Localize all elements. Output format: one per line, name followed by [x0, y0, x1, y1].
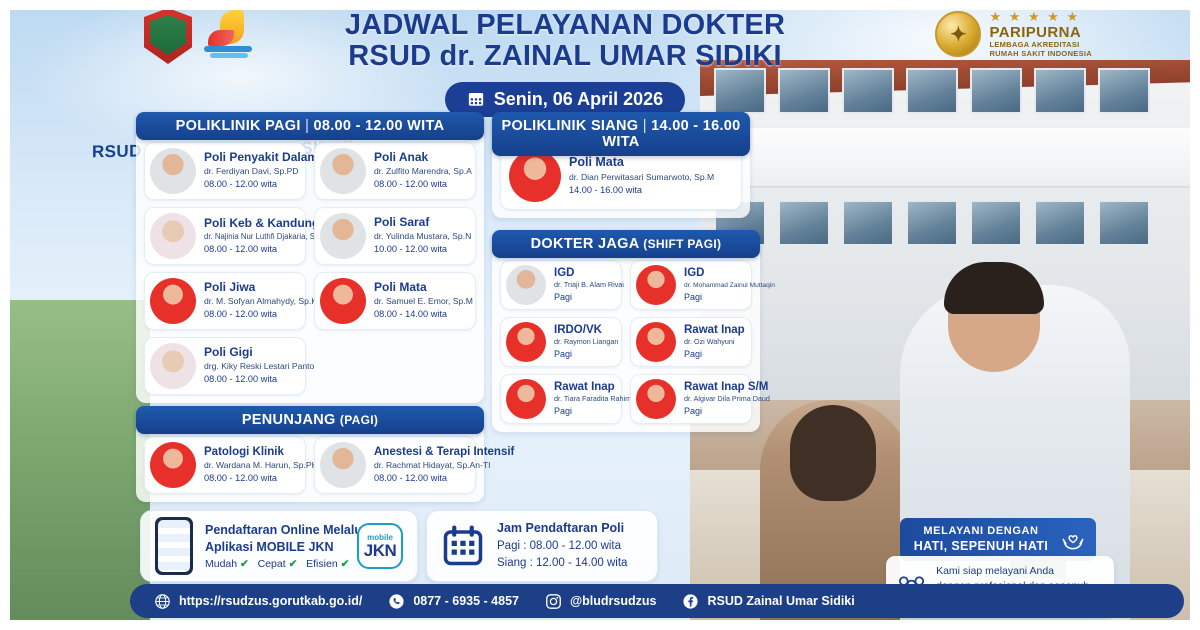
- section-title: PENUNJANG: [242, 412, 336, 428]
- title-line-1: JADWAL PELAYANAN DOKTER: [330, 10, 800, 41]
- duty-card[interactable]: IGD dr. Mohammad Zainul Muttaqin Pagi: [630, 260, 752, 310]
- clinic-name: Anestesi & Terapi Intensif: [374, 445, 467, 459]
- instagram-icon: [545, 593, 562, 610]
- duty-shift: Pagi: [684, 291, 746, 304]
- doctor-avatar: [636, 379, 676, 419]
- clinic-card-text: Poli Anak dr. Zulfito Marendra, Sp.A 08.…: [374, 150, 467, 191]
- doctor-name: dr. Triaji B. Alam Rivai: [554, 280, 616, 291]
- doctor-name: dr. Algivar Dila Prima Daud: [684, 394, 746, 405]
- clinic-time: 08.00 - 12.00 wita: [374, 178, 467, 191]
- patient-head: [790, 405, 876, 501]
- support-card[interactable]: Anestesi & Terapi Intensif dr. Rachmat H…: [314, 436, 476, 494]
- section-header-poliklinik-siang: POLIKLINIK SIANG | 14.00 - 16.00 WITA: [492, 112, 750, 156]
- clinic-time: 08.00 - 12.00 wita: [204, 178, 297, 191]
- jkn-text-block: Pendaftaran Online Melalui Aplikasi MOBI…: [205, 522, 345, 570]
- duty-card[interactable]: IGD dr. Triaji B. Alam Rivai Pagi: [500, 260, 622, 310]
- section-poliklinik-siang: POLIKLINIK SIANG | 14.00 - 16.00 WITA Po…: [492, 112, 750, 218]
- section-shift: (PAGI): [340, 413, 378, 427]
- check-icon: ✔: [240, 558, 249, 570]
- doctor-avatar: [320, 278, 366, 324]
- clinic-card[interactable]: Poli Keb & Kandungan dr. Najinia Nur Lut…: [144, 207, 306, 265]
- doctor-name: dr. Rachmat Hidayat, Sp.An-TI: [374, 459, 467, 472]
- footer-phone[interactable]: 0877 - 6935 - 4857: [388, 593, 519, 610]
- page-title: JADWAL PELAYANAN DOKTER RSUD dr. ZAINAL …: [330, 10, 800, 117]
- clinic-name: Poli Saraf: [374, 215, 467, 230]
- duty-unit: Rawat Inap: [684, 323, 745, 337]
- building-sign-band: [700, 128, 1200, 186]
- clinic-card-text: Poli Penyakit Dalam dr. Ferdiyan Davi, S…: [204, 150, 297, 191]
- window: [1098, 200, 1150, 246]
- jkn-tag-2: Cepat: [258, 558, 286, 570]
- promise-line-1: Kami siap melayani Anda: [936, 564, 1104, 579]
- accreditation-level: PARIPURNA: [989, 25, 1092, 42]
- clinic-name: Poli Keb & Kandungan: [204, 216, 297, 231]
- motto-line-2: HATI, SEPENUH HATI: [910, 539, 1052, 555]
- duty-shift: Pagi: [554, 348, 616, 361]
- doctor-name: dr. M. Sofyan Almahydy, Sp.KJ: [204, 295, 297, 308]
- doctor-avatar: [150, 442, 196, 488]
- jkn-line-1: Pendaftaran Online Melalui: [205, 522, 345, 539]
- window: [906, 200, 958, 246]
- clinic-card[interactable]: Poli Penyakit Dalam dr. Ferdiyan Davi, S…: [144, 142, 306, 200]
- clinic-time: 14.00 - 16.00 wita: [569, 184, 714, 197]
- doctor-name: drg. Kiky Reski Lestari Panto: [204, 360, 297, 373]
- duty-unit: Rawat Inap S/M: [684, 380, 746, 394]
- motto-badge: MELAYANI DENGAN HATI, SEPENUH HATI: [900, 518, 1096, 561]
- jkn-benefits: Mudah ✔ Cepat ✔ Efisien ✔: [205, 558, 345, 570]
- window: [1098, 68, 1150, 114]
- section-header-penunjang: PENUNJANG (PAGI): [136, 406, 484, 434]
- boat-logo-icon: [202, 8, 256, 60]
- panel-body: Poli Penyakit Dalam dr. Ferdiyan Davi, S…: [136, 112, 484, 403]
- section-separator: |: [643, 118, 647, 134]
- duty-shift: Pagi: [554, 291, 616, 304]
- panel-body: IGD dr. Triaji B. Alam Rivai Pagi IGD dr…: [492, 230, 760, 432]
- section-header-dokter-jaga: DOKTER JAGA (SHIFT PAGI): [492, 230, 760, 258]
- date-label: Senin, 06 April 2026: [494, 89, 663, 110]
- clinic-name: Poli Anak: [374, 150, 467, 165]
- doctor-name: dr. Yulinda Mustara, Sp.N: [374, 230, 467, 243]
- duty-unit: IGD: [684, 266, 746, 280]
- duty-card-text: IGD dr. Triaji B. Alam Rivai Pagi: [554, 266, 616, 304]
- support-card-text: Anestesi & Terapi Intensif dr. Rachmat H…: [374, 445, 467, 486]
- doctor-name: dr. Ferdiyan Davi, Sp.PD: [204, 165, 297, 178]
- motto-line-1: MELAYANI DENGAN: [910, 525, 1052, 539]
- clinic-name: Poli Mata: [569, 155, 714, 171]
- support-card[interactable]: Patologi Klinik dr. Wardana M. Harun, Sp…: [144, 436, 306, 494]
- duty-card-text: IRDO/VK dr. Raymon Liangan Pagi: [554, 323, 616, 361]
- clinic-time: 10.00 - 12.00 wita: [374, 243, 467, 256]
- heart-in-hands-icon: [1060, 527, 1086, 553]
- duty-card-text: Rawat Inap dr. Ozi Wahyuni Pagi: [684, 323, 745, 361]
- clinic-card-text: Poli Mata dr. Dian Perwitasari Sumarwoto…: [569, 155, 714, 197]
- facebook-page: RSUD Zainal Umar Sidiki: [707, 594, 854, 608]
- title-line-2: RSUD dr. ZAINAL UMAR SIDIKI: [330, 41, 800, 72]
- calendar-icon: [441, 525, 485, 567]
- window: [970, 68, 1022, 114]
- duty-unit: IRDO/VK: [554, 323, 616, 337]
- jkn-logo-bottom: JKN: [364, 542, 397, 559]
- window: [842, 68, 894, 114]
- clinic-card-text: Poli Gigi drg. Kiky Reski Lestari Panto …: [204, 345, 297, 386]
- doctor-name: dr. Wardana M. Harun, Sp.PK: [204, 459, 297, 472]
- doctor-name: dr. Zulfito Marendra, Sp.A: [374, 165, 467, 178]
- duty-card[interactable]: Rawat Inap dr. Ozi Wahyuni Pagi: [630, 317, 752, 367]
- clinic-name: Patologi Klinik: [204, 445, 297, 459]
- building-window-row-lower: [714, 200, 1150, 246]
- clinic-name: Poli Jiwa: [204, 280, 297, 295]
- accreditation-badge: ✦ ★ ★ ★ ★ ★ PARIPURNA LEMBAGA AKREDITASI…: [935, 10, 1092, 58]
- mobile-jkn-logo-icon: mobile JKN: [357, 523, 403, 569]
- phone-number: 0877 - 6935 - 4857: [413, 594, 519, 608]
- clinic-card-text: Poli Jiwa dr. M. Sofyan Almahydy, Sp.KJ …: [204, 280, 297, 321]
- support-card-text: Patologi Klinik dr. Wardana M. Harun, Sp…: [204, 445, 297, 486]
- duty-shift: Pagi: [554, 405, 616, 418]
- header-logos: [144, 8, 256, 64]
- background-foliage: [0, 300, 150, 630]
- clinic-name: Poli Gigi: [204, 345, 297, 360]
- doctor-name: dr. Ozi Wahyuni: [684, 337, 745, 348]
- registration-hours-text: Jam Pendaftaran Poli Pagi : 08.00 - 12.0…: [497, 519, 627, 572]
- doctor-avatar: [320, 213, 366, 259]
- doctor-avatar: [506, 322, 546, 362]
- clinic-time: 08.00 - 12.00 wita: [204, 308, 297, 321]
- duty-unit: IGD: [554, 266, 616, 280]
- section-penunjang: PENUNJANG (PAGI) Patologi Klinik dr. War…: [136, 406, 484, 502]
- duty-card[interactable]: Rawat Inap dr. Tiara Faradita Rahim Pagi: [500, 374, 622, 424]
- doctor-name: dr. Raymon Liangan: [554, 337, 616, 348]
- registration-hours-box[interactable]: Jam Pendaftaran Poli Pagi : 08.00 - 12.0…: [426, 510, 658, 582]
- footer-website[interactable]: https://rsudzus.gorutkab.go.id/: [154, 593, 362, 610]
- duty-shift: Pagi: [684, 348, 745, 361]
- check-icon: ✔: [289, 558, 298, 570]
- doctor-avatar: [320, 442, 366, 488]
- window: [778, 200, 830, 246]
- clinic-name: Poli Penyakit Dalam: [204, 150, 297, 165]
- duty-card-text: Rawat Inap dr. Tiara Faradita Rahim Pagi: [554, 380, 616, 418]
- clinic-card[interactable]: Poli Jiwa dr. M. Sofyan Almahydy, Sp.KJ …: [144, 272, 306, 330]
- doctor-avatar: [150, 343, 196, 389]
- duty-card[interactable]: Rawat Inap S/M dr. Algivar Dila Prima Da…: [630, 374, 752, 424]
- clinic-card-text: Poli Mata dr. Samuel E. Emor, Sp.M 08.00…: [374, 280, 467, 321]
- doctor-avatar: [506, 265, 546, 305]
- mobile-jkn-info-box[interactable]: Pendaftaran Online Melalui Aplikasi MOBI…: [140, 510, 418, 582]
- clinic-name: Poli Mata: [374, 280, 467, 295]
- phone-icon: [388, 593, 405, 610]
- section-hours: 08.00 - 12.00 WITA: [313, 118, 444, 134]
- motto-text: MELAYANI DENGAN HATI, SEPENUH HATI: [910, 525, 1052, 554]
- clinic-card-text: Poli Keb & Kandungan dr. Najinia Nur Lut…: [204, 216, 297, 256]
- doctor-avatar: [636, 322, 676, 362]
- window: [970, 200, 1022, 246]
- phone-screen: [158, 520, 190, 572]
- doctor-avatar: [509, 150, 561, 202]
- smartphone-icon: [155, 517, 193, 575]
- clinic-card[interactable]: Poli Gigi drg. Kiky Reski Lestari Panto …: [144, 337, 306, 395]
- window: [1034, 200, 1086, 246]
- section-dokter-jaga: DOKTER JAGA (SHIFT PAGI) IGD dr. Triaji …: [492, 230, 760, 432]
- window: [842, 200, 894, 246]
- doctor-avatar: [506, 379, 546, 419]
- duty-unit: Rawat Inap: [554, 380, 616, 394]
- jkn-line-2: Aplikasi MOBILE JKN: [205, 539, 345, 556]
- clinic-card[interactable]: Poli Saraf dr. Yulinda Mustara, Sp.N 10.…: [314, 207, 476, 265]
- poster-root: RSUD dr. ZAINAL UMAR SIDIKI JADWAL PELAY…: [0, 0, 1200, 630]
- globe-icon: [154, 593, 171, 610]
- section-poliklinik-pagi: POLIKLINIK PAGI | 08.00 - 12.00 WITA Pol…: [136, 112, 484, 403]
- doctor-avatar: [636, 265, 676, 305]
- clinic-card-grid: Poli Penyakit Dalam dr. Ferdiyan Davi, S…: [144, 142, 476, 395]
- gold-medal-icon: ✦: [935, 11, 981, 57]
- doctor-avatar: [150, 148, 196, 194]
- doctor-name: dr. Mohammad Zainul Muttaqin: [684, 281, 746, 291]
- window: [906, 68, 958, 114]
- website-url: https://rsudzus.gorutkab.go.id/: [179, 594, 362, 608]
- clinic-time: 08.00 - 12.00 wita: [204, 472, 297, 485]
- jkn-tag-3: Efisien: [306, 558, 338, 570]
- footer-contact-bar: https://rsudzus.gorutkab.go.id/ 0877 - 6…: [130, 584, 1184, 618]
- regency-emblem-icon: [144, 8, 192, 64]
- clinic-card[interactable]: Poli Mata dr. Samuel E. Emor, Sp.M 08.00…: [314, 272, 476, 330]
- section-separator: |: [305, 118, 309, 134]
- doctor-avatar: [150, 213, 196, 259]
- registration-hours-morning: Pagi : 08.00 - 12.00 wita: [497, 538, 627, 555]
- instagram-handle: @bludrsudzus: [570, 594, 657, 608]
- duty-card-text: IGD dr. Mohammad Zainul Muttaqin Pagi: [684, 266, 746, 303]
- section-title: POLIKLINIK SIANG: [501, 118, 638, 134]
- wave-light: [210, 53, 248, 58]
- footer-instagram[interactable]: @bludrsudzus: [545, 593, 657, 610]
- clinic-time: 08.00 - 12.00 wita: [204, 373, 297, 386]
- section-shift: (SHIFT PAGI): [643, 237, 721, 251]
- duty-card[interactable]: IRDO/VK dr. Raymon Liangan Pagi: [500, 317, 622, 367]
- clinic-card-text: Poli Saraf dr. Yulinda Mustara, Sp.N 10.…: [374, 215, 467, 256]
- doctor-name: dr. Dian Perwitasari Sumarwoto, Sp.M: [569, 171, 714, 184]
- clinic-time: 08.00 - 14.00 wita: [374, 308, 467, 321]
- clinic-card[interactable]: Poli Anak dr. Zulfito Marendra, Sp.A 08.…: [314, 142, 476, 200]
- calendar-icon: [467, 90, 485, 108]
- accreditation-text: ★ ★ ★ ★ ★ PARIPURNA LEMBAGA AKREDITASI R…: [989, 10, 1092, 58]
- wave-dark: [204, 46, 252, 52]
- registration-hours-afternoon: Siang : 12.00 - 14.00 wita: [497, 555, 627, 572]
- window: [1034, 68, 1086, 114]
- doctor-avatar: [150, 278, 196, 324]
- clinic-time: 08.00 - 12.00 wita: [374, 472, 467, 485]
- footer-facebook[interactable]: RSUD Zainal Umar Sidiki: [682, 593, 854, 610]
- star-rating: ★ ★ ★ ★ ★: [989, 10, 1092, 25]
- accreditation-line2: RUMAH SAKIT INDONESIA: [989, 50, 1092, 58]
- section-title: POLIKLINIK PAGI: [176, 118, 301, 134]
- doctor-name: dr. Tiara Faradita Rahim: [554, 394, 616, 405]
- jkn-tag-1: Mudah: [205, 558, 237, 570]
- doctor-name: dr. Najinia Nur Luthfi Djakaria, Sp.OG: [204, 231, 297, 243]
- duty-card-grid: IGD dr. Triaji B. Alam Rivai Pagi IGD dr…: [500, 260, 752, 424]
- check-icon: ✔: [341, 558, 350, 570]
- section-title: DOKTER JAGA: [531, 236, 639, 252]
- support-card-grid: Patologi Klinik dr. Wardana M. Harun, Sp…: [144, 436, 476, 494]
- clinic-time: 08.00 - 12.00 wita: [204, 243, 297, 256]
- facebook-icon: [682, 593, 699, 610]
- doctor-name: dr. Samuel E. Emor, Sp.M: [374, 295, 467, 308]
- section-header-poliklinik-pagi: POLIKLINIK PAGI | 08.00 - 12.00 WITA: [136, 112, 484, 140]
- duty-card-text: Rawat Inap S/M dr. Algivar Dila Prima Da…: [684, 380, 746, 418]
- duty-shift: Pagi: [684, 405, 746, 418]
- doctor-avatar: [320, 148, 366, 194]
- registration-hours-title: Jam Pendaftaran Poli: [497, 519, 627, 538]
